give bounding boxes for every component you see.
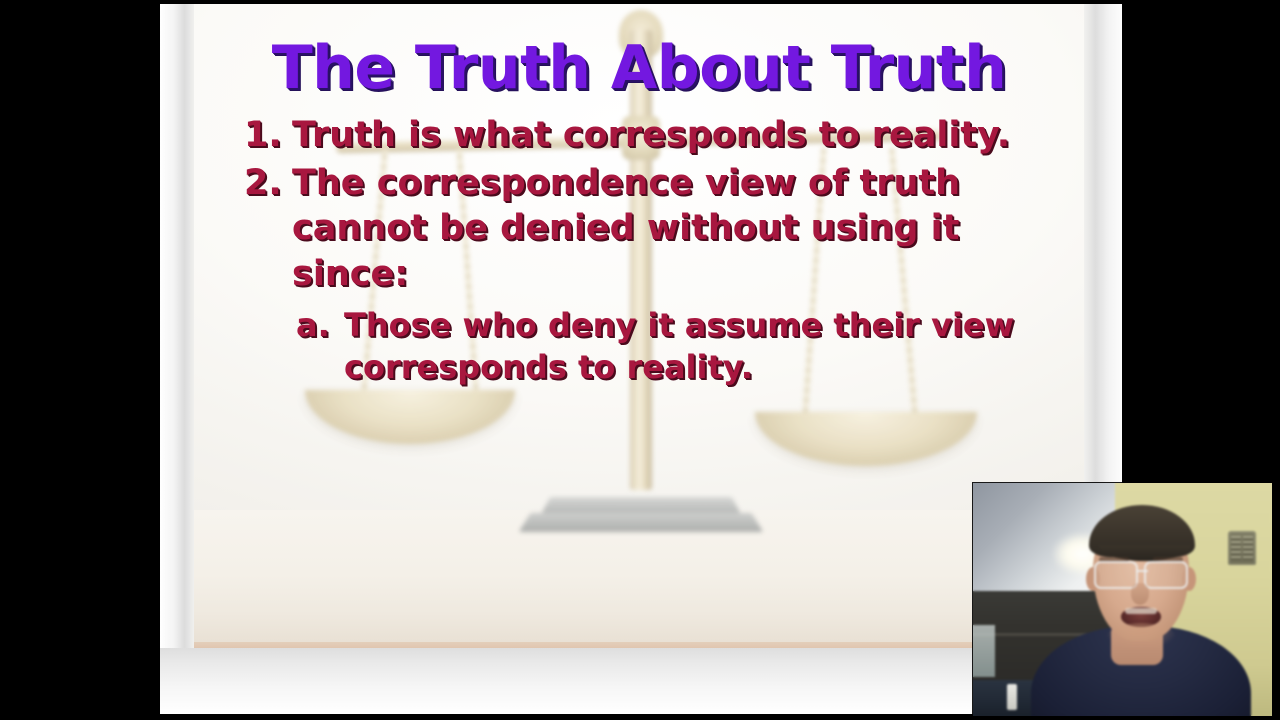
presenter-teeth — [1125, 608, 1157, 614]
bullet-item-1: 1. Truth is what corresponds to reality. — [244, 113, 1066, 159]
letterbox-left — [0, 0, 160, 720]
bullet-item-2: 2. The correspondence view of truth cann… — [244, 161, 1066, 298]
slide-subbullet-list: a. Those who deny it assume their view c… — [244, 305, 1066, 388]
presenter-person — [973, 483, 1272, 716]
glasses-lens-left — [1094, 561, 1138, 589]
slide-mat-left — [160, 4, 194, 714]
scale-pan-left — [305, 390, 515, 444]
scale-pan-right — [755, 412, 977, 466]
slide-title: The Truth About Truth — [194, 4, 1084, 99]
scale-base-upper — [541, 497, 741, 514]
scale-base-lower — [519, 513, 763, 532]
video-stage: The Truth About Truth 1. Truth is what c… — [0, 0, 1280, 720]
slide-bullet-list: 1. Truth is what corresponds to reality.… — [194, 113, 1084, 388]
webcam-video-frame — [973, 483, 1272, 716]
bullet-marker: 2. — [244, 161, 292, 207]
bullet-text: The correspondence view of truth cannot … — [292, 161, 1066, 298]
glasses-lens-right — [1144, 561, 1188, 589]
bullet-text: Truth is what corresponds to reality. — [292, 113, 1066, 159]
slide-text-layer: The Truth About Truth 1. Truth is what c… — [194, 4, 1084, 388]
presenter-webcam-overlay[interactable] — [973, 483, 1272, 716]
presenter-chin — [1107, 623, 1175, 649]
glasses-bridge — [1136, 570, 1148, 572]
subbullet-item-a: a. Those who deny it assume their view c… — [296, 305, 1066, 388]
bullet-marker: 1. — [244, 113, 292, 159]
subbullet-marker: a. — [296, 305, 344, 347]
subbullet-text: Those who deny it assume their view corr… — [344, 305, 1066, 388]
presenter-nose — [1131, 583, 1149, 605]
